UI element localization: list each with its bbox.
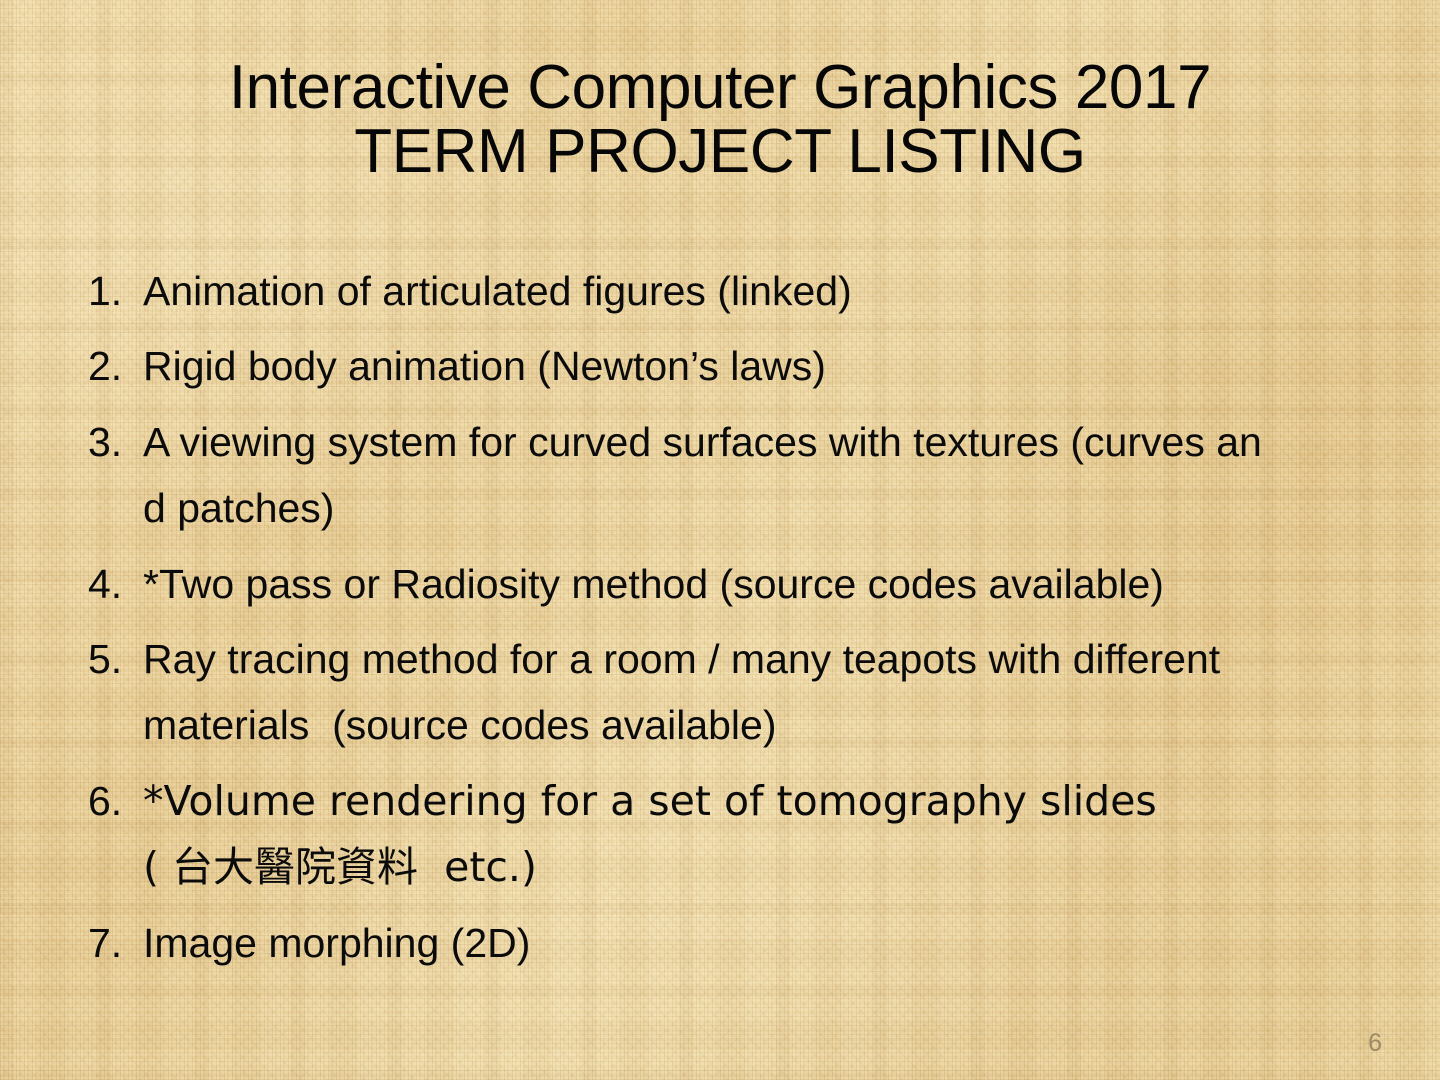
list-item-label: A viewing system for curved surfaces wit… <box>143 409 1388 542</box>
list-item: 5. Ray tracing method for a room / many … <box>88 626 1388 759</box>
list-item-number: 7. <box>88 910 143 976</box>
slide-content: Interactive Computer Graphics 2017 Term … <box>0 0 1440 1080</box>
list-item-label: Animation of articulated figures (linked… <box>143 258 1388 324</box>
list-item-label: Ray tracing method for a room / many tea… <box>143 626 1388 759</box>
list-item-number: 2. <box>88 333 143 399</box>
list-item-label: *Volume rendering for a set of tomograph… <box>143 768 1388 901</box>
title-line-primary: Interactive Computer Graphics 2017 <box>70 56 1370 120</box>
slide-page-number: 6 <box>1368 1029 1382 1058</box>
list-item-number: 5. <box>88 626 143 692</box>
list-item-number: 6. <box>88 768 143 834</box>
list-item-number: 1. <box>88 258 143 324</box>
list-item: 6. *Volume rendering for a set of tomogr… <box>88 768 1388 901</box>
list-item: 3. A viewing system for curved surfaces … <box>88 409 1388 542</box>
list-item: 2. Rigid body animation (Newton’s laws) <box>88 333 1388 399</box>
list-item-label: Image morphing (2D) <box>143 910 1388 976</box>
list-item: 1. Animation of articulated figures (lin… <box>88 258 1388 324</box>
list-item-label: Rigid body animation (Newton’s laws) <box>143 333 1388 399</box>
list-item-number: 4. <box>88 551 143 617</box>
project-list: 1. Animation of articulated figures (lin… <box>88 258 1388 985</box>
list-item-label: *Two pass or Radiosity method (source co… <box>143 551 1388 617</box>
page-title: Interactive Computer Graphics 2017 Term … <box>70 56 1370 184</box>
list-item-number: 3. <box>88 409 143 475</box>
list-item: 4. *Two pass or Radiosity method (source… <box>88 551 1388 617</box>
list-item: 7. Image morphing (2D) <box>88 910 1388 976</box>
title-line-secondary: Term Project Listing <box>70 120 1370 184</box>
slide-canvas: Interactive Computer Graphics 2017 Term … <box>0 0 1440 1080</box>
